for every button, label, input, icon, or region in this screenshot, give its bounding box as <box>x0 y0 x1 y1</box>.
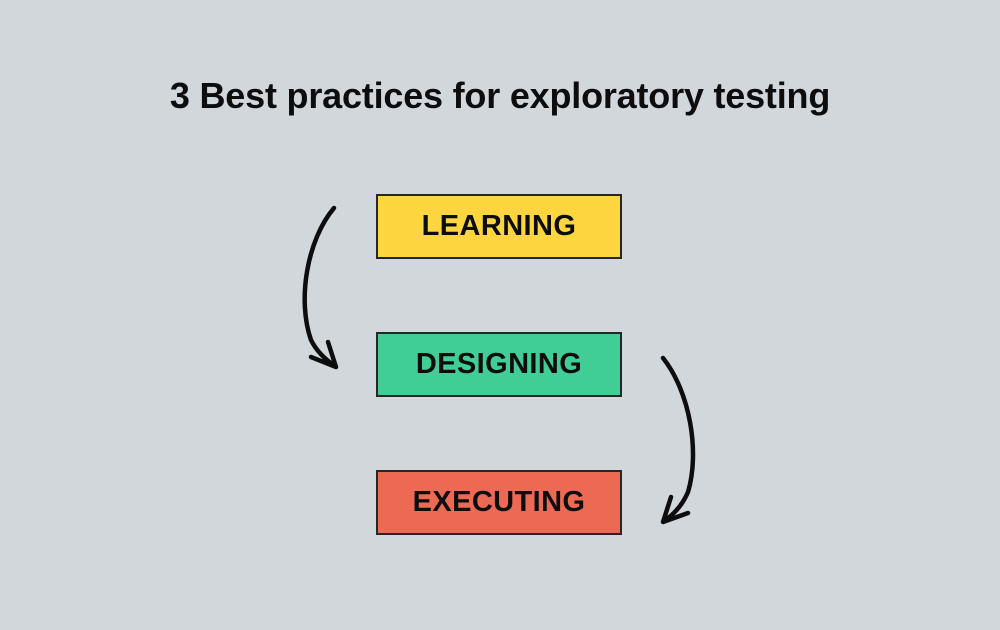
stage-box-designing[interactable]: DESIGNING <box>376 332 622 397</box>
stage-label-designing: DESIGNING <box>416 350 582 379</box>
arrow-learning-to-designing-icon <box>305 208 336 367</box>
stage-label-executing: EXECUTING <box>413 488 586 517</box>
stage-label-learning: LEARNING <box>422 212 577 241</box>
page-title: 3 Best practices for exploratory testing <box>0 74 1000 118</box>
diagram-canvas: 3 Best practices for exploratory testing… <box>0 0 1000 630</box>
stage-box-learning[interactable]: LEARNING <box>376 194 622 259</box>
arrow-designing-to-executing-icon <box>663 358 693 522</box>
stage-box-executing[interactable]: EXECUTING <box>376 470 622 535</box>
